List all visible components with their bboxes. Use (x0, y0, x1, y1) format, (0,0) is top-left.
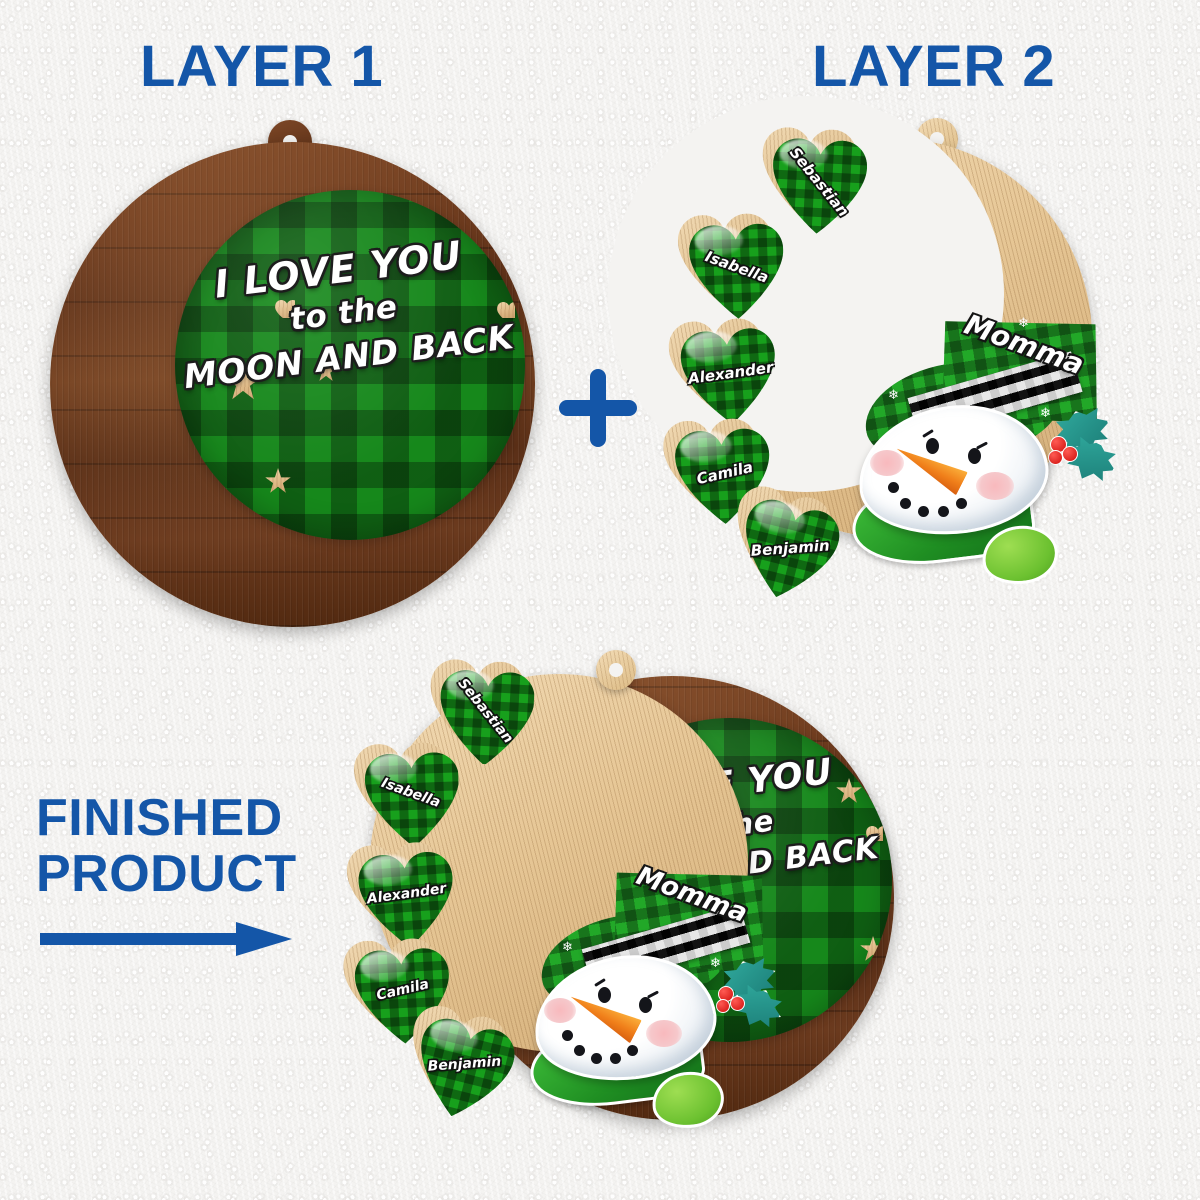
snowman-eye (639, 997, 652, 1013)
layer-1-ornament: I LOVE YOU to the MOON AND BACK (40, 120, 540, 630)
snowflake-icon: ❄ (1040, 406, 1051, 419)
snowman-cheek (870, 450, 904, 476)
right-arrow-icon (40, 922, 292, 956)
snowman-eye (926, 438, 939, 454)
snowman-cheek (544, 998, 576, 1023)
layer-2-label: LAYER 2 (812, 38, 1055, 96)
snowman-eye (598, 987, 611, 1003)
snowman-mouth-coal (562, 1030, 573, 1041)
layer-1-label: LAYER 1 (140, 38, 383, 96)
snowflake-icon: ❄ (888, 388, 899, 401)
holly-berry-icon (730, 996, 745, 1011)
snowman-cheek (976, 472, 1014, 500)
snowman-mouth-coal (591, 1053, 602, 1064)
snowman-figure: ❄ ❄ ❄ ❄ ❄ ❄ ❄ ❄ Momma (858, 314, 1108, 584)
snowman-cheek (646, 1020, 682, 1047)
snowman-mouth-coal (938, 506, 949, 517)
holly-berry-icon (716, 999, 730, 1013)
holly-berry-icon (1062, 446, 1078, 462)
snowman-eye (968, 448, 981, 464)
snowman-mouth-coal (900, 498, 911, 509)
snowman-mouth-coal (888, 482, 899, 493)
snowman-mouth-coal (574, 1045, 585, 1056)
snowman-mouth-coal (627, 1045, 638, 1056)
snowflake-icon: ❄ (710, 956, 721, 969)
layer-2-ornament: Sebastian Isabella Alexander Camila Benj… (660, 118, 1100, 648)
snowman-mouth-coal (918, 506, 929, 517)
snowman-figure: ❄ ❄ ❄ ❄ ❄ ❄ ❄ Momma (534, 868, 774, 1126)
finished-product-label: FINISHED PRODUCT (36, 790, 297, 902)
snowflake-icon: ❄ (562, 940, 573, 953)
snowman-mouth-coal (956, 498, 967, 509)
snowman-mouth-coal (610, 1053, 621, 1064)
finished-product-ornament: I LOVE YOU to the MOON AND BACK Sebastia… (348, 650, 908, 1190)
holly-berry-icon (1048, 450, 1063, 465)
ornament-hanger-loop (596, 650, 636, 690)
